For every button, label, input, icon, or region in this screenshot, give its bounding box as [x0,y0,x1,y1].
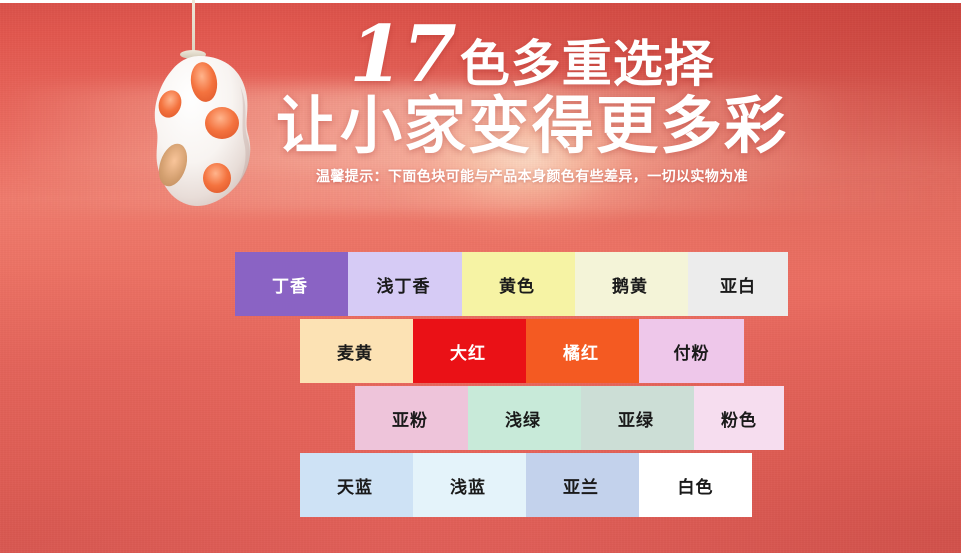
color-swatch-天蓝[interactable]: 天蓝 [300,453,413,517]
color-options-banner: 17 色多重选择 让小家变得更多彩 温馨提示：下面色块可能与产品本身颜色有些差异… [0,0,961,556]
color-swatch-label: 丁香 [272,272,308,297]
color-swatch-亚粉[interactable]: 亚粉 [355,386,468,450]
color-swatch-label: 天蓝 [337,473,373,498]
color-swatch-label: 亚绿 [618,406,654,431]
headline-line-1-text: 色多重选择 [460,36,715,92]
color-swatch-白色[interactable]: 白色 [639,453,752,517]
swatch-row: 麦黄大红橘红付粉 [300,319,744,383]
color-swatch-亚绿[interactable]: 亚绿 [581,386,694,450]
color-swatch-label: 付粉 [674,339,710,364]
color-swatch-label: 大红 [450,339,486,364]
color-swatch-label: 亚白 [720,272,756,297]
color-swatch-亚白[interactable]: 亚白 [688,252,788,316]
color-count-number: 17 [349,16,456,94]
headline-tip-note: 温馨提示：下面色块可能与产品本身颜色有些差异，一切以实物为准 [262,168,802,186]
color-swatch-label: 白色 [678,473,714,498]
headline-line-2: 让小家变得更多彩 [262,92,802,160]
color-swatch-橘红[interactable]: 橘红 [526,319,639,383]
color-swatch-label: 黄色 [499,272,535,297]
headline-block: 17 色多重选择 让小家变得更多彩 温馨提示：下面色块可能与产品本身颜色有些差异… [262,16,802,186]
swatch-row: 天蓝浅蓝亚兰白色 [300,453,752,517]
color-swatch-label: 浅丁香 [377,272,431,297]
color-swatch-大红[interactable]: 大红 [413,319,526,383]
color-swatch-付粉[interactable]: 付粉 [639,319,744,383]
color-swatch-浅丁香[interactable]: 浅丁香 [348,252,462,316]
pendant-lamp-image [122,0,282,226]
color-swatch-grid: 丁香浅丁香黄色鹅黄亚白麦黄大红橘红付粉亚粉浅绿亚绿粉色天蓝浅蓝亚兰白色 [0,252,961,532]
color-swatch-浅蓝[interactable]: 浅蓝 [413,453,526,517]
color-swatch-麦黄[interactable]: 麦黄 [300,319,413,383]
color-swatch-label: 亚粉 [392,406,428,431]
color-swatch-浅绿[interactable]: 浅绿 [468,386,581,450]
color-swatch-label: 粉色 [721,406,757,431]
headline-line-1: 17 色多重选择 [262,16,802,98]
color-swatch-label: 浅绿 [505,406,541,431]
lamp-shade-icon [122,0,282,226]
color-swatch-label: 麦黄 [337,339,373,364]
color-swatch-label: 浅蓝 [450,473,486,498]
color-swatch-丁香[interactable]: 丁香 [235,252,348,316]
swatch-row: 丁香浅丁香黄色鹅黄亚白 [235,252,788,316]
swatch-row: 亚粉浅绿亚绿粉色 [355,386,784,450]
color-swatch-亚兰[interactable]: 亚兰 [526,453,639,517]
color-swatch-鹅黄[interactable]: 鹅黄 [575,252,688,316]
color-swatch-label: 橘红 [563,339,599,364]
color-swatch-粉色[interactable]: 粉色 [694,386,784,450]
color-swatch-label: 亚兰 [563,473,599,498]
color-swatch-黄色[interactable]: 黄色 [462,252,575,316]
color-swatch-label: 鹅黄 [612,272,648,297]
